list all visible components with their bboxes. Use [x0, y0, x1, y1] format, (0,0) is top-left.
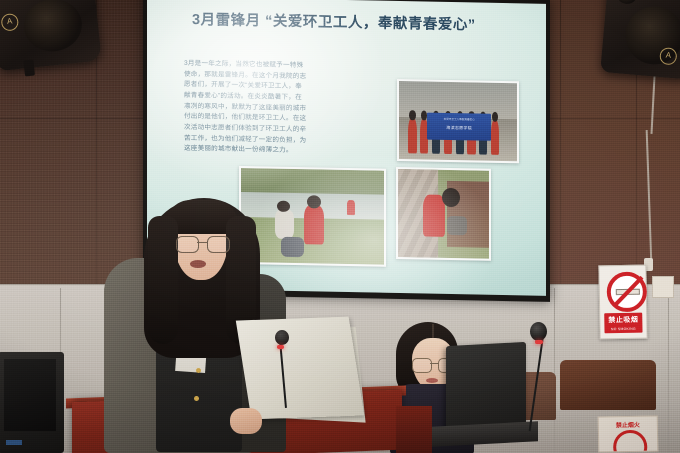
mouth [190, 260, 206, 268]
lens [176, 236, 199, 253]
eyeglasses-icon [176, 236, 228, 251]
slide-photo-hedge [396, 167, 491, 261]
prohibition-circle-icon [613, 430, 648, 453]
microphone-indicator [535, 340, 543, 344]
photo-person [491, 120, 499, 154]
speaker-badge: A [659, 47, 677, 65]
glasses-bridge [197, 242, 207, 243]
microphone-stem [279, 340, 287, 408]
lecture-hall-photo: 3月雷锋月 “关爱环卫工人，奉献青春爱心” 3月是一年之际，当然它也被赋予一特殊… [0, 0, 680, 453]
glasses-bridge [430, 363, 438, 364]
slide-body-text: 3月是一年之际，当然它也被赋予一特殊使命，那就是雷锋月。在这个月我院的志愿者们，… [184, 59, 308, 157]
speaker-badge: A [0, 13, 19, 32]
speaker-cone [21, 0, 84, 54]
chair-back [560, 360, 656, 410]
speech-pages [236, 317, 364, 420]
photo-person [408, 119, 416, 153]
slide-photo-group: 关爱环卫工人奉献青春爱心 海滨志愿学院 [397, 79, 519, 163]
side-monitor [0, 352, 64, 453]
no-smoking-sign: 禁止吸烟 NO SMOKING [598, 265, 647, 340]
banner-text: 海滨志愿学院 [427, 125, 491, 132]
monitor-indicator [6, 440, 22, 445]
speaker-bracket [23, 60, 35, 77]
microphone-indicator [277, 345, 284, 349]
speaker-tweeter [616, 0, 637, 5]
button [194, 396, 199, 401]
wall-switch-plate[interactable] [652, 276, 674, 298]
lens [412, 358, 432, 373]
no-smoking-text-en: NO SMOKING [604, 327, 642, 332]
photo-person-head [409, 110, 415, 120]
podium-microphone[interactable] [524, 322, 564, 432]
no-smoking-icon [606, 272, 647, 313]
monitor-screen [4, 359, 56, 431]
photo-volunteer-vest [347, 200, 356, 215]
hair-side [148, 216, 178, 344]
wall-panel-line [668, 288, 669, 453]
lens [207, 236, 230, 253]
wall-seam [560, 0, 561, 300]
mouth [426, 378, 438, 383]
photo-person-head [442, 187, 460, 207]
banner-subtext: 关爱环卫工人奉献青春爱心 [427, 116, 491, 121]
podium-side [396, 406, 432, 453]
no-smoking-text-cn: 禁止吸烟 [604, 315, 642, 326]
standing-speaker [104, 196, 320, 453]
ceiling-speaker-right: A [600, 0, 680, 80]
microphone-head [530, 322, 547, 341]
microphone-head [275, 330, 289, 345]
microphone-stem [529, 336, 544, 431]
desk-microphone[interactable] [272, 330, 298, 408]
button [196, 368, 201, 373]
ceiling-speaker-left: A [0, 0, 102, 71]
no-smoking-label-plate: 禁止吸烟 NO SMOKING [604, 313, 642, 334]
hand [230, 408, 262, 434]
slide-title: 3月雷锋月 “关爱环卫工人，奉献青春爱心” [192, 11, 532, 36]
photo-banner: 关爱环卫工人奉献青春爱心 海滨志愿学院 [427, 113, 491, 141]
prohibition-sign-text: 禁止烟火 [599, 419, 657, 429]
prohibition-sign-lower: 禁止烟火 [598, 415, 659, 452]
photo-trash-bag [447, 216, 467, 236]
